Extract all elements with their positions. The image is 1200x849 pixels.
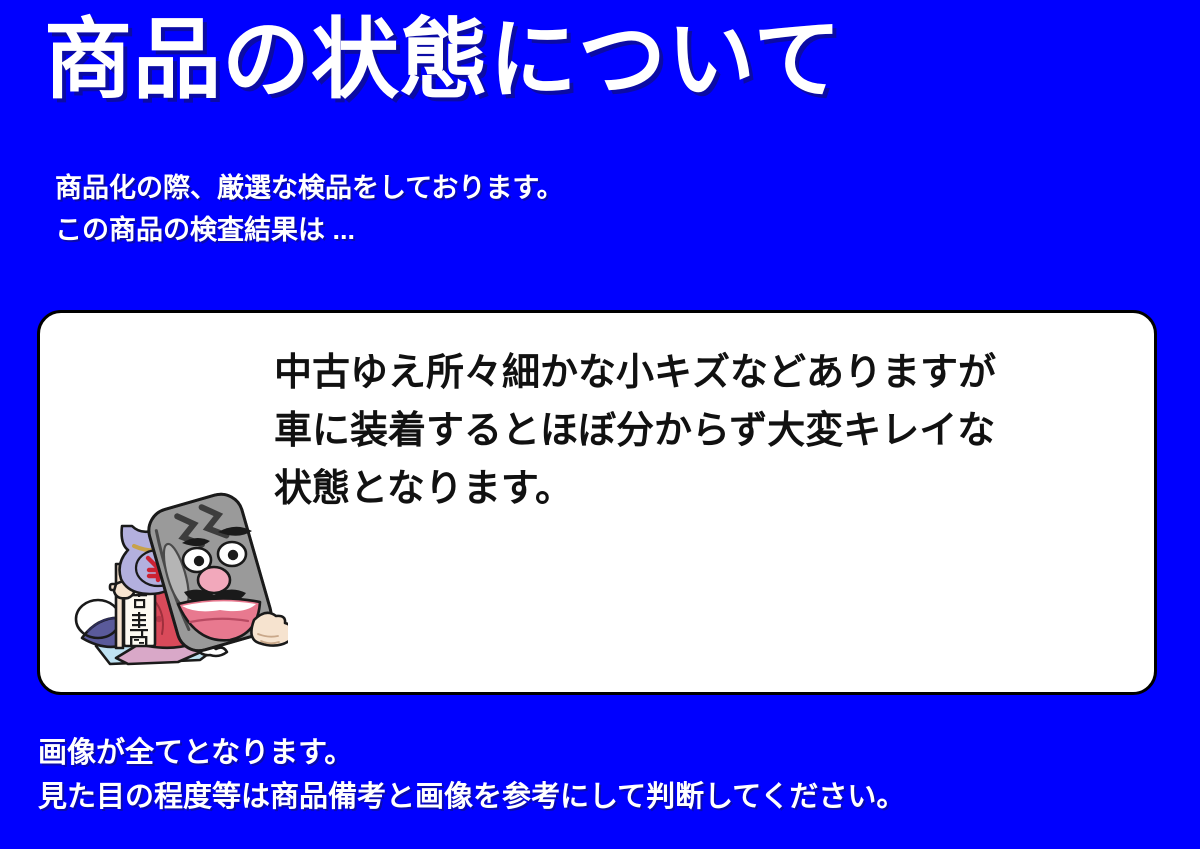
inspection-result-card: 中古ゆえ所々細かな小キズなどありますが 車に装着するとほぼ分からず大変キレイな … [37,310,1157,695]
intro-text-block: 商品化の際、厳選な検品をしております。 この商品の検査結果は ... [55,168,955,252]
page-title: 商品の状態について [44,16,842,104]
result-line-1: 中古ゆえ所々細かな小キズなどありますが [274,345,1114,403]
result-line-2: 車に装着するとほぼ分からず大変キレイな [274,403,1114,461]
tire-character-mascot [58,488,288,678]
footer-text-block: 画像が全てとなります。 見た目の程度等は商品備考と画像を参考にして判断してくださ… [38,732,1158,819]
footer-line-1: 画像が全てとなります。 [38,732,1158,776]
nose [198,567,230,593]
inspection-result-text: 中古ゆえ所々細かな小キズなどありますが 車に装着するとほぼ分からず大変キレイな … [274,345,1114,518]
thumbs-up-hand [251,613,288,646]
intro-line-1: 商品化の際、厳選な検品をしております。 [55,168,955,210]
footer-line-2: 見た目の程度等は商品備考と画像を参考にして判断してください。 [38,776,1158,820]
result-line-3: 状態となります。 [274,461,1114,519]
product-condition-banner: 商品の状態について 商品化の際、厳選な検品をしております。 この商品の検査結果は… [0,0,1200,849]
intro-line-2: この商品の検査結果は ... [55,210,955,252]
